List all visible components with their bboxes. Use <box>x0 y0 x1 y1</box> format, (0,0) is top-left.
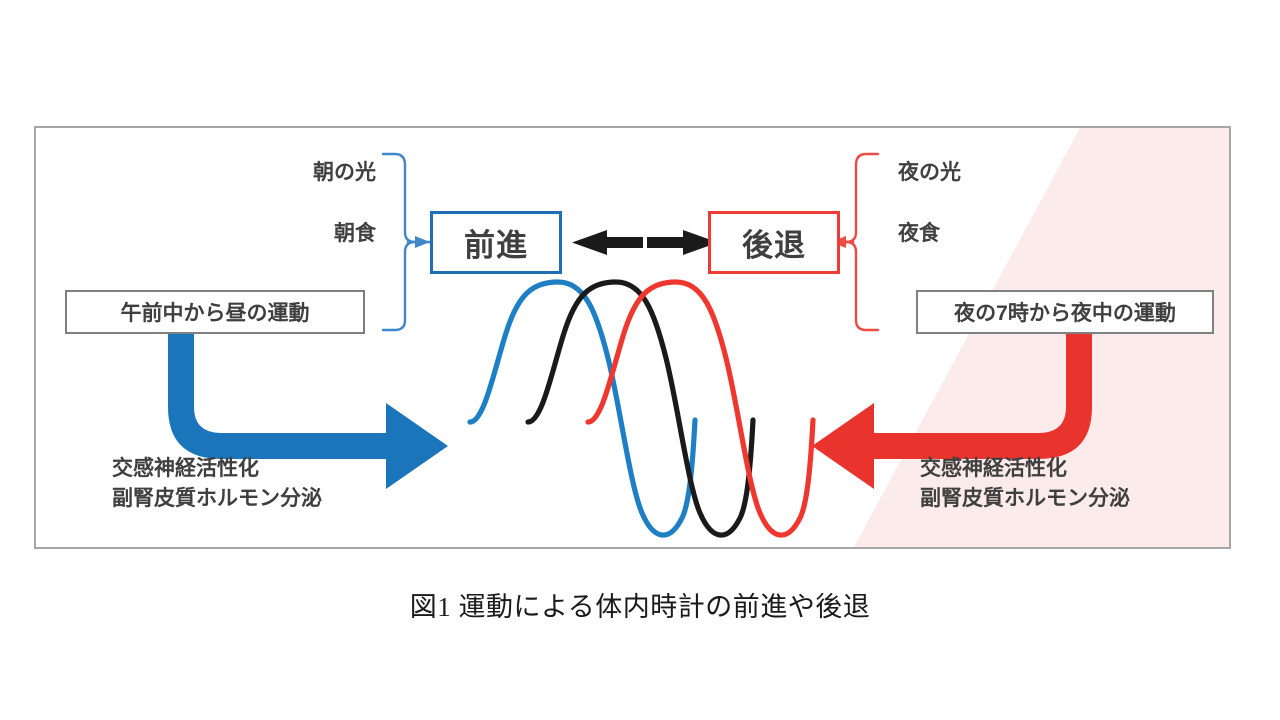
figure-root: 朝の光 朝食 午前中から昼の運動 前進 交感神経活性化 副腎皮質ホルモン分泌 夜… <box>0 0 1280 720</box>
morning-cue-light: 朝の光 <box>216 160 376 185</box>
morning-exercise-box[interactable]: 午前中から昼の運動 <box>65 290 365 334</box>
wave-normal-black <box>528 282 753 535</box>
morning-bracket-arrowhead <box>415 236 430 248</box>
wave-advanced-blue <box>470 282 695 535</box>
state-box-delay[interactable]: 後退 <box>708 211 840 274</box>
morning-cue-breakfast: 朝食 <box>216 221 376 246</box>
wave-delayed-red <box>588 282 813 535</box>
morning-effect-text: 交感神経活性化 副腎皮質ホルモン分泌 <box>112 454 322 515</box>
diagram-frame: 朝の光 朝食 午前中から昼の運動 前進 交感神経活性化 副腎皮質ホルモン分泌 夜… <box>34 126 1231 549</box>
figure-caption: 図1 運動による体内時計の前進や後退 <box>0 585 1280 624</box>
night-bracket-icon <box>846 154 878 330</box>
morning-bracket-icon <box>383 154 415 330</box>
night-exercise-box[interactable]: 夜の7時から夜中の運動 <box>916 290 1214 334</box>
night-cue-supper: 夜食 <box>898 221 940 246</box>
arrow-left-icon <box>572 230 643 255</box>
state-box-advance[interactable]: 前進 <box>430 211 562 274</box>
night-cue-light: 夜の光 <box>898 160 961 185</box>
night-effect-text: 交感神経活性化 副腎皮質ホルモン分泌 <box>920 454 1130 515</box>
